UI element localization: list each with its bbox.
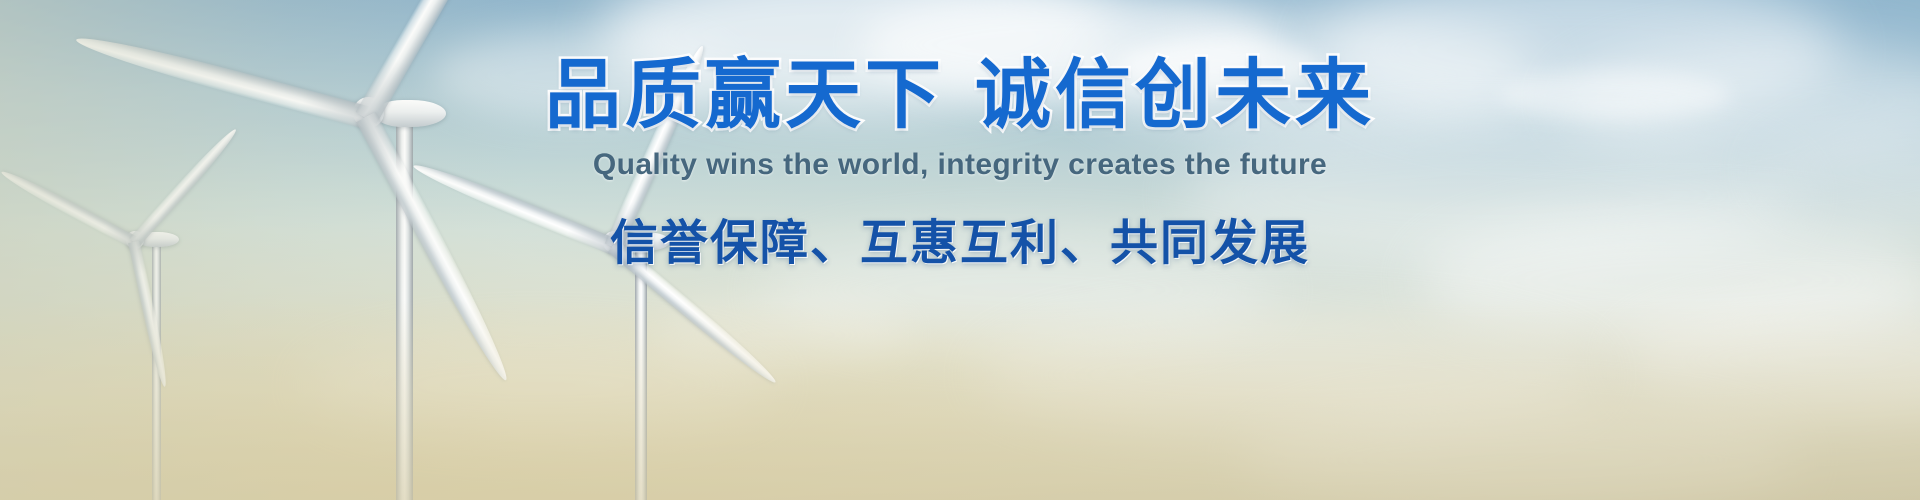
- headline-part-2: 诚信创未来: [975, 53, 1375, 138]
- headline-part-1: 品质赢天下: [545, 53, 945, 138]
- banner-subline-english: Quality wins the world, integrity create…: [0, 150, 1920, 180]
- hero-banner: 品质赢天下诚信创未来 Quality wins the world, integ…: [0, 0, 1920, 500]
- banner-headline: 品质赢天下诚信创未来: [0, 58, 1920, 134]
- banner-copy-block: 品质赢天下诚信创未来 Quality wins the world, integ…: [0, 58, 1920, 268]
- bottom-haze-overlay: [0, 300, 1920, 500]
- banner-tagline-chinese: 信誉保障、互惠互利、共同发展: [0, 220, 1920, 268]
